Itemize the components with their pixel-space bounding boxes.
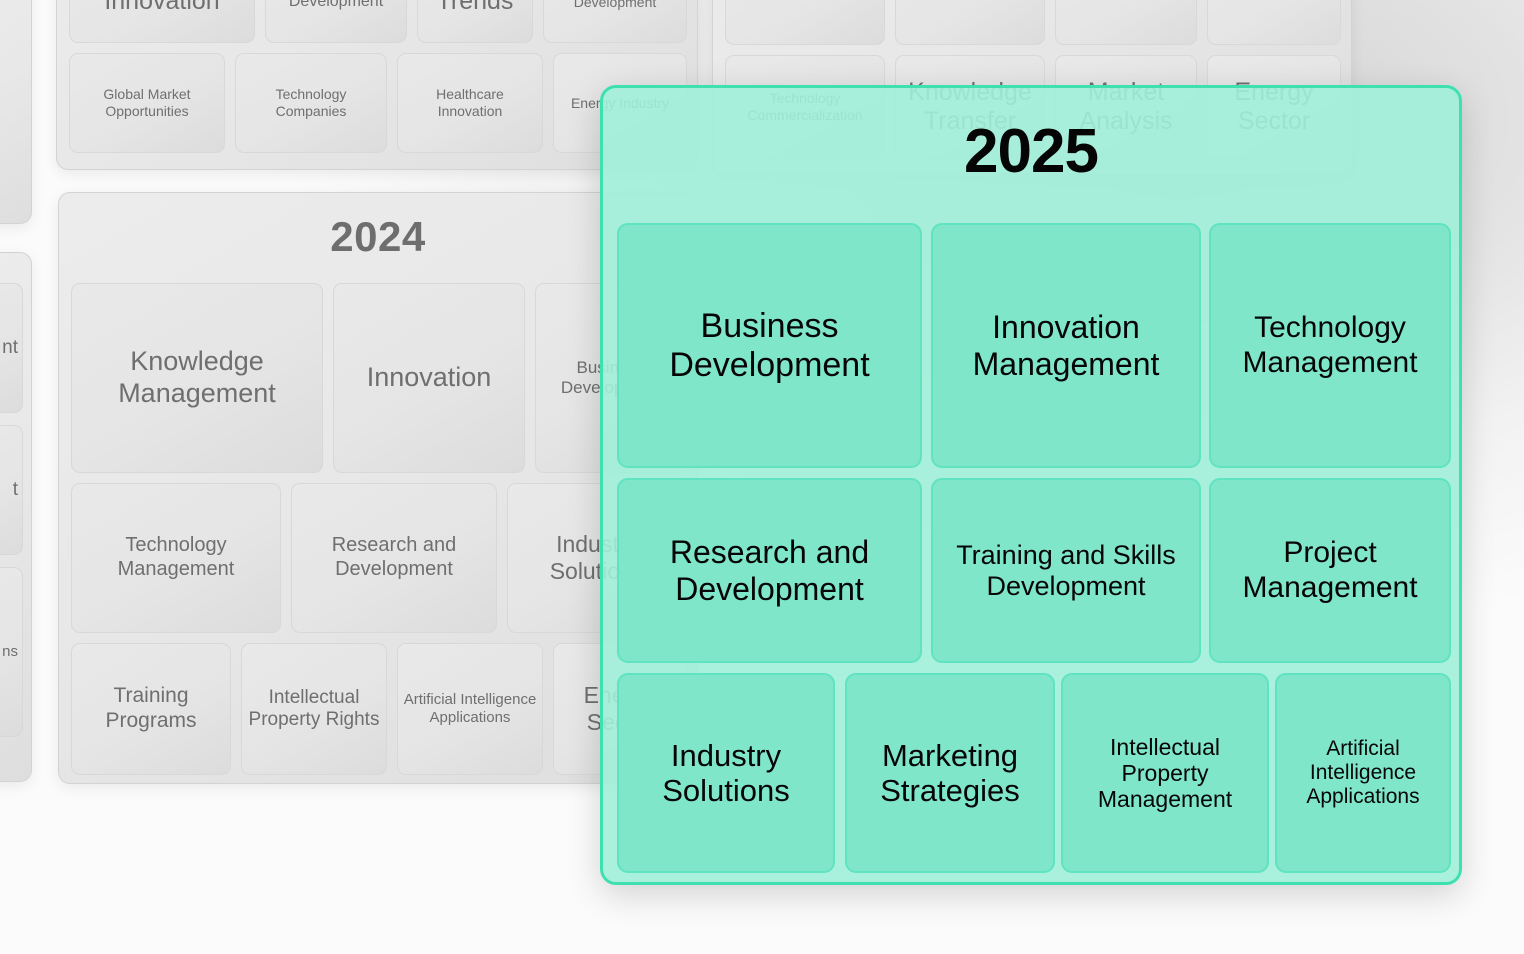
screenshot-canvas: nt t e ns Innovation Development Trends …	[0, 0, 1524, 954]
background-tile	[1055, 0, 1197, 45]
tile-industry-solutions[interactable]: Industry Solutions	[617, 673, 835, 873]
background-tile: Research and Development	[291, 483, 497, 633]
background-tile: Knowledge Management	[71, 283, 323, 473]
background-tile: t	[0, 425, 23, 555]
tile-research-and-development[interactable]: Research and Development	[617, 478, 922, 663]
background-tile: Innovation	[69, 0, 255, 43]
tile-business-development[interactable]: Business Development	[617, 223, 922, 468]
tile-project-management[interactable]: Project Management	[1209, 478, 1451, 663]
card-2025[interactable]: 2025 Business Development Innovation Man…	[600, 85, 1462, 885]
background-tile: Global Market Opportunities	[69, 53, 225, 153]
tile-intellectual-property-management[interactable]: Intellectual Property Management	[1061, 673, 1269, 873]
background-tile: Trends	[417, 0, 533, 43]
card-2025-title: 2025	[603, 116, 1459, 187]
background-tile: Training Programs	[71, 643, 231, 775]
tile-artificial-intelligence-applications[interactable]: Artificial Intelligence Applications	[1275, 673, 1451, 873]
background-tile	[725, 0, 885, 45]
background-tile: Artificial Intelligence Applications	[397, 643, 543, 775]
background-tile: Technology Companies	[235, 53, 387, 153]
background-tile: Development	[543, 0, 687, 43]
tile-innovation-management[interactable]: Innovation Management	[931, 223, 1201, 468]
tile-training-and-skills-development[interactable]: Training and Skills Development	[931, 478, 1201, 663]
background-tile	[1207, 0, 1341, 45]
background-tile	[895, 0, 1045, 45]
background-tile: nt	[0, 283, 23, 413]
background-tile: Development	[265, 0, 407, 43]
tile-technology-management[interactable]: Technology Management	[1209, 223, 1451, 468]
background-panel-left-edge-lower: nt t e ns	[0, 252, 32, 782]
tile-marketing-strategies[interactable]: Marketing Strategies	[845, 673, 1055, 873]
background-tile: Innovation	[333, 283, 525, 473]
background-tile: Intellectual Property Rights	[241, 643, 387, 775]
background-panel-left-edge	[0, 0, 32, 224]
background-tile: e ns	[0, 567, 23, 737]
background-tile: Healthcare Innovation	[397, 53, 543, 153]
background-tile: Technology Management	[71, 483, 281, 633]
